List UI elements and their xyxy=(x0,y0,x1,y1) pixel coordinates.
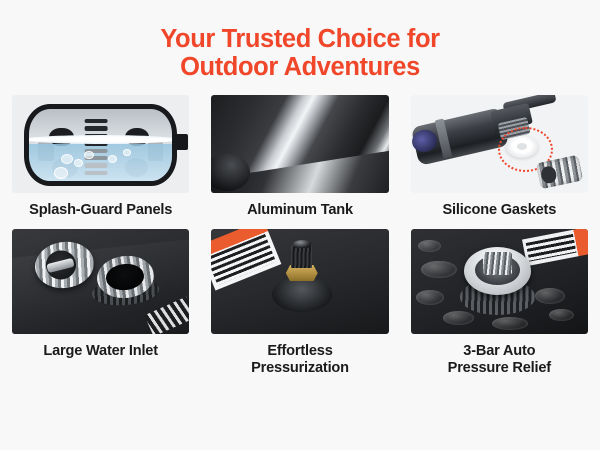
caption-line-1: Silicone Gaskets xyxy=(443,202,557,219)
feature-caption: Effortless Pressurization xyxy=(251,343,349,377)
feature-card-effortless-pressurization[interactable]: Effortless Pressurization xyxy=(211,229,388,377)
feature-card-large-water-inlet[interactable]: Large Water Inlet xyxy=(12,229,189,377)
feature-caption: 3-Bar Auto Pressure Relief xyxy=(448,343,551,377)
caption-line-1: Effortless xyxy=(251,343,349,360)
pressure-relief-image xyxy=(411,229,588,334)
caption-line-1: Splash-Guard Panels xyxy=(29,202,172,219)
caption-line-1: Aluminum Tank xyxy=(247,202,353,219)
feature-card-3-bar-auto-pressure-relief[interactable]: 3-Bar Auto Pressure Relief xyxy=(411,229,588,377)
feature-card-splash-guard-panels[interactable]: Splash-Guard Panels xyxy=(12,95,189,219)
caption-line-1: 3-Bar Auto xyxy=(448,343,551,360)
effortless-pressurization-image xyxy=(211,229,388,334)
splash-guard-panels-image xyxy=(12,95,189,193)
warning-label xyxy=(211,229,281,291)
feature-caption: Splash-Guard Panels xyxy=(29,202,172,219)
warning-label xyxy=(522,229,588,267)
feature-card-aluminum-tank[interactable]: Aluminum Tank xyxy=(211,95,388,219)
silicone-gaskets-image xyxy=(411,95,588,193)
feature-caption: Aluminum Tank xyxy=(247,202,353,219)
page-title-line-1: Your Trusted Choice for xyxy=(0,25,600,53)
page-title-line-2: Outdoor Adventures xyxy=(0,53,600,81)
feature-caption: Silicone Gaskets xyxy=(443,202,557,219)
page-title: Your Trusted Choice for Outdoor Adventur… xyxy=(0,0,600,81)
large-water-inlet-image xyxy=(12,229,189,334)
feature-caption: Large Water Inlet xyxy=(43,343,157,360)
aluminum-tank-image xyxy=(211,95,388,193)
caption-line-2: Pressurization xyxy=(251,360,349,377)
caption-line-2: Pressure Relief xyxy=(448,360,551,377)
caption-line-1: Large Water Inlet xyxy=(43,343,157,360)
feature-grid: Splash-Guard Panels Aluminum Tank xyxy=(0,81,600,377)
feature-highlight-page: Your Trusted Choice for Outdoor Adventur… xyxy=(0,0,600,450)
feature-card-silicone-gaskets[interactable]: Silicone Gaskets xyxy=(411,95,588,219)
